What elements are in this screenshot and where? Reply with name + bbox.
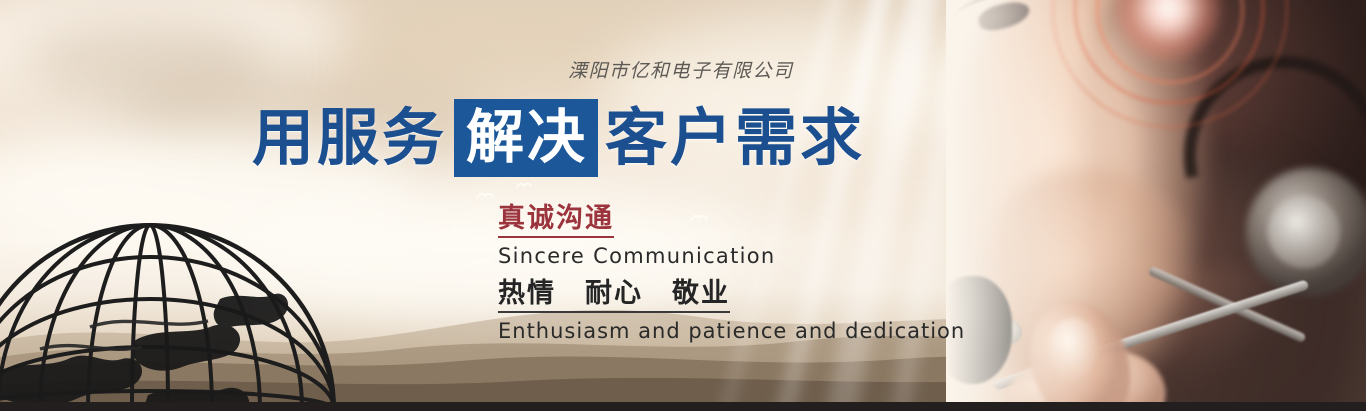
photo-blend-edge xyxy=(946,0,1096,411)
headline-highlight: 解决 xyxy=(454,99,598,177)
headline-before: 用服务 xyxy=(252,107,447,169)
headline-after: 客户需求 xyxy=(605,107,865,169)
slogan-1-en: Sincere Communication xyxy=(498,244,965,268)
headline: 用服务 解决 客户需求 xyxy=(252,99,865,177)
slogan-2-cn: 热情 耐心 敬业 xyxy=(498,278,730,313)
headset-earpad-inner xyxy=(1268,196,1340,268)
slogan-2-en: Enthusiasm and patience and dedication xyxy=(498,319,965,343)
promo-banner: 溧阳市亿和电子有限公司 用服务 解决 客户需求 真诚沟通 Sincere Com… xyxy=(0,0,1366,411)
headset-agent-photo xyxy=(946,0,1366,411)
bottom-strip xyxy=(0,402,1366,411)
company-name: 溧阳市亿和电子有限公司 xyxy=(568,56,794,83)
slogan-1-cn: 真诚沟通 xyxy=(498,203,614,238)
slogan-block: 真诚沟通 Sincere Communication 热情 耐心 敬业 Enth… xyxy=(498,203,965,343)
wireframe-globe xyxy=(0,209,410,411)
